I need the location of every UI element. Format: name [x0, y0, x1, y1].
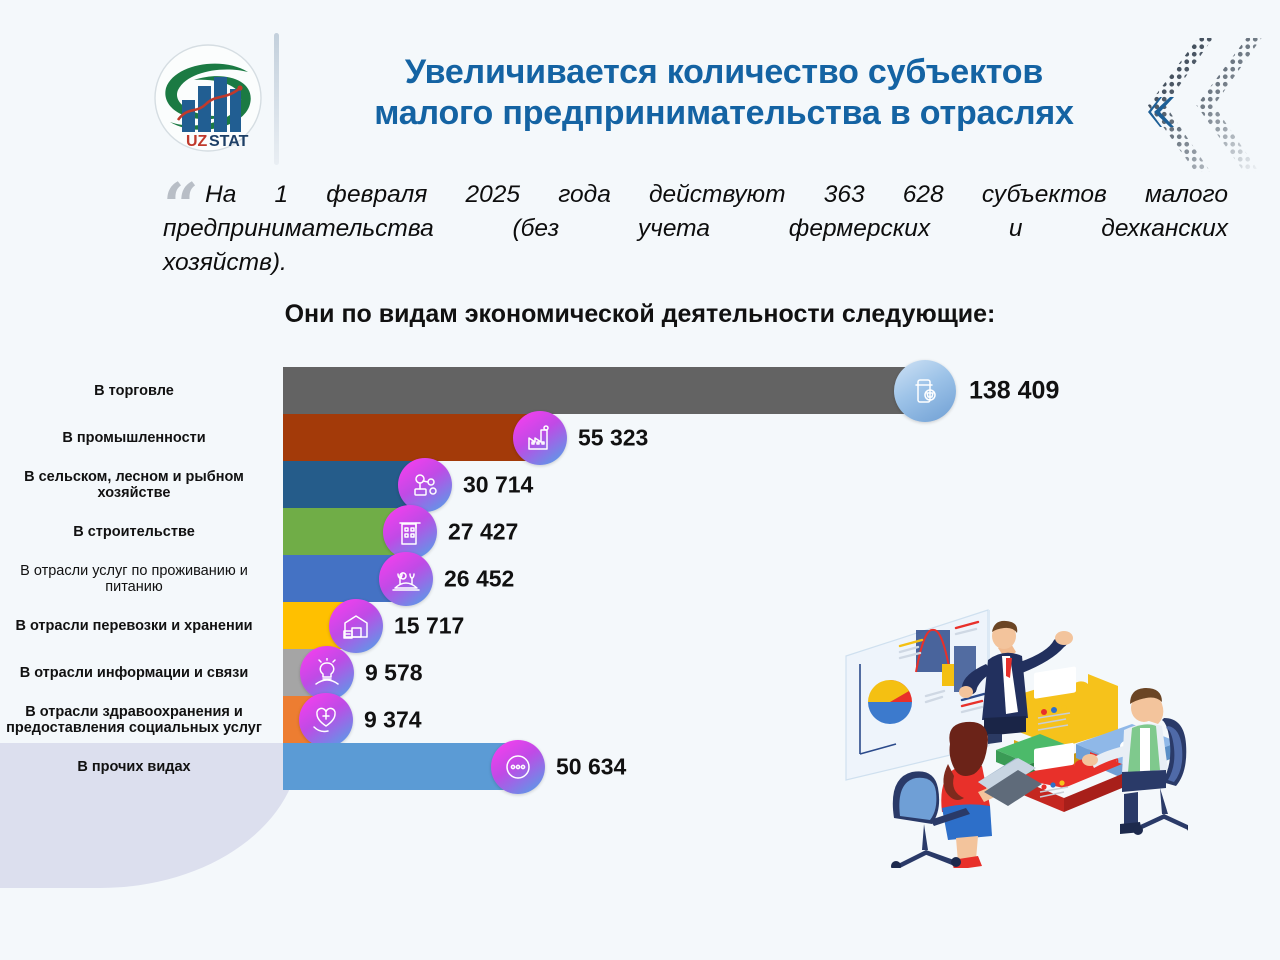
bar-category-label: В строительстве	[0, 523, 272, 539]
bar-value-label: 9 374	[364, 706, 422, 733]
bar-value-label: 55 323	[578, 424, 648, 451]
bar-value-label: 138 409	[969, 376, 1059, 405]
bar-category-label: В отрасли перевозки и хранении	[0, 617, 272, 633]
logo-stat-text: STAT	[209, 133, 249, 150]
quote-line-2: предпринимательства (без учета фермерски…	[163, 212, 1228, 246]
bar-value-label: 9 578	[365, 659, 423, 686]
business-meeting-illustration	[838, 568, 1188, 868]
bar-category-label: В прочих видах	[0, 758, 272, 774]
bar	[283, 414, 540, 461]
construction-crane-icon	[383, 505, 437, 559]
bar-value-label: 50 634	[556, 753, 626, 780]
bar-row: В промышленности55 323	[0, 414, 1280, 461]
bar-value-label: 15 717	[394, 612, 464, 639]
bar-value-label: 30 714	[463, 471, 533, 498]
information-idea-icon	[300, 646, 354, 700]
shop-mobile-icon	[894, 360, 956, 422]
bar-row: В строительстве27 427	[0, 508, 1280, 555]
bar-category-label: В торговле	[0, 382, 272, 398]
logo-uz-text: UZ	[186, 133, 208, 150]
quote-line-3: хозяйств).	[163, 246, 1228, 280]
bar-row: В сельском, лесном и рыбном хозяйстве30 …	[0, 461, 1280, 508]
warehouse-delivery-icon	[329, 599, 383, 653]
other-dots-icon	[491, 740, 545, 794]
agriculture-icon	[398, 458, 452, 512]
quote-text: На 1 февраля 2025 года действуют 363 628…	[205, 178, 1228, 279]
bar-row: В торговле138 409	[0, 367, 1280, 414]
bar-value-label: 27 427	[448, 518, 518, 545]
bar-category-label: В сельском, лесном и рыбном хозяйстве	[0, 468, 272, 500]
uzstat-logo: UZ STAT	[152, 42, 264, 154]
bar	[283, 367, 925, 414]
bar-category-label: В отрасли информации и связи	[0, 664, 272, 680]
bar-category-label: В отрасли здравоохранения и предоставлен…	[0, 703, 272, 735]
quote-line-1: На 1 февраля 2025 года действуют 363 628…	[205, 178, 1228, 212]
page-title: Увеличивается количество субъектов малог…	[286, 52, 1162, 135]
header-divider	[274, 33, 279, 165]
restaurant-food-icon	[379, 552, 433, 606]
healthcare-heart-icon	[299, 693, 353, 747]
chart-subtitle: Они по видам экономической деятельности …	[0, 300, 1280, 329]
bar-value-label: 26 452	[444, 565, 514, 592]
factory-icon	[513, 411, 567, 465]
bar	[283, 743, 518, 790]
title-line-2: малого предпринимательства в отраслях	[286, 93, 1162, 134]
bar-category-label: В промышленности	[0, 429, 272, 445]
bar-category-label: В отрасли услуг по проживанию и питанию	[0, 562, 272, 594]
title-line-1: Увеличивается количество субъектов	[286, 52, 1162, 93]
